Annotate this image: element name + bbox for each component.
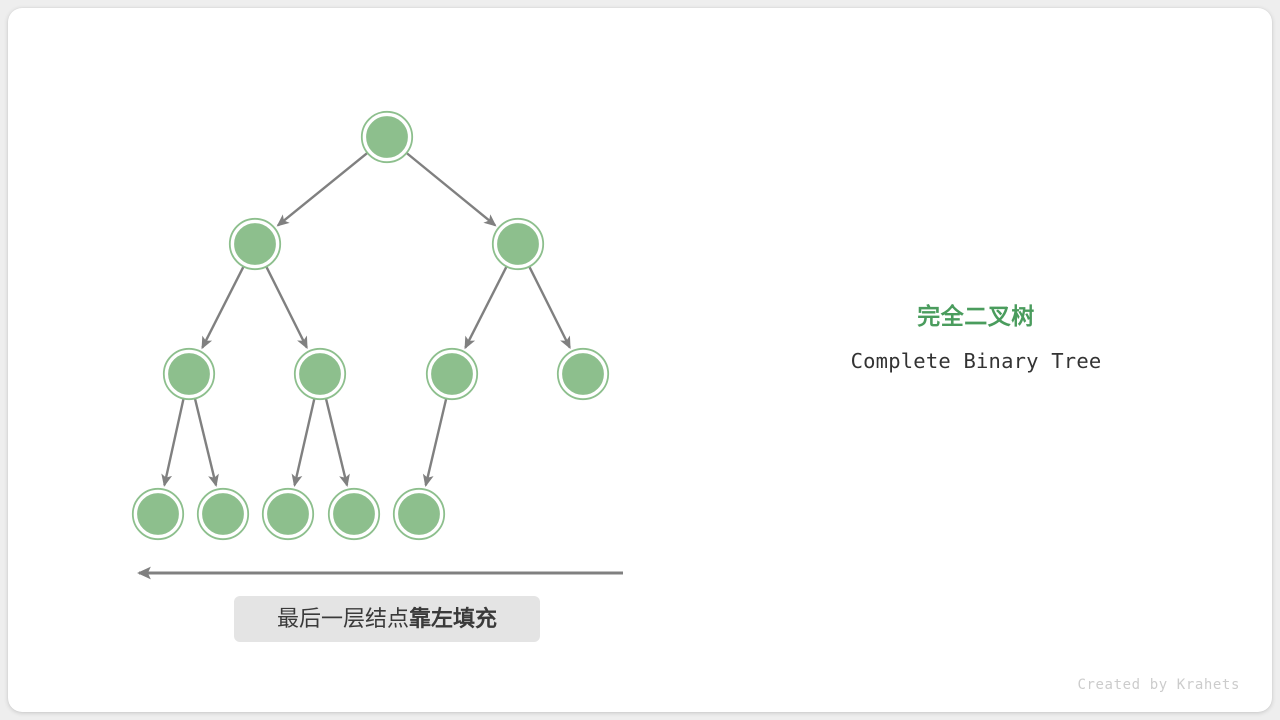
tree-node[interactable] bbox=[263, 489, 313, 539]
tree-edge bbox=[406, 153, 495, 226]
tree-node-circle bbox=[298, 352, 342, 396]
tree-edge bbox=[202, 266, 244, 348]
tree-edge bbox=[266, 266, 307, 348]
tree-edge bbox=[195, 398, 216, 486]
tree-edge bbox=[295, 398, 315, 485]
tree-edge bbox=[426, 398, 447, 485]
tree-node[interactable] bbox=[427, 349, 477, 399]
tree-node-circle bbox=[365, 115, 409, 159]
diagram-card: 最后一层结点靠左填充 完全二叉树 Complete Binary Tree Cr… bbox=[8, 8, 1272, 712]
tree-node[interactable] bbox=[164, 349, 214, 399]
tree-node[interactable] bbox=[198, 489, 248, 539]
binary-tree-diagram: 最后一层结点靠左填充 完全二叉树 Complete Binary Tree Cr… bbox=[8, 8, 1272, 712]
badge-label-strong: 靠左填充 bbox=[409, 606, 497, 631]
tree-edge bbox=[278, 152, 368, 225]
tree-node[interactable] bbox=[230, 219, 280, 269]
legend-title-cn: 完全二叉树 bbox=[917, 303, 1035, 329]
annotation-badge: 最后一层结点靠左填充 bbox=[234, 596, 540, 642]
tree-nodes bbox=[133, 112, 608, 539]
tree-node-circle bbox=[233, 222, 277, 266]
tree-node-circle bbox=[496, 222, 540, 266]
tree-edge bbox=[326, 398, 347, 486]
tree-node[interactable] bbox=[493, 219, 543, 269]
legend-block: 完全二叉树 Complete Binary Tree bbox=[851, 303, 1102, 373]
tree-node[interactable] bbox=[133, 489, 183, 539]
tree-node-circle bbox=[201, 492, 245, 536]
tree-edge bbox=[465, 266, 507, 348]
svg-text:最后一层结点靠左填充: 最后一层结点靠左填充 bbox=[277, 606, 497, 631]
tree-node-circle bbox=[430, 352, 474, 396]
legend-title-en: Complete Binary Tree bbox=[851, 349, 1102, 373]
tree-node-circle bbox=[266, 492, 310, 536]
tree-node[interactable] bbox=[558, 349, 608, 399]
tree-node[interactable] bbox=[394, 489, 444, 539]
tree-node-circle bbox=[332, 492, 376, 536]
tree-node[interactable] bbox=[329, 489, 379, 539]
tree-node-circle bbox=[561, 352, 605, 396]
tree-node-circle bbox=[397, 492, 441, 536]
tree-edge bbox=[164, 398, 183, 485]
tree-node-circle bbox=[167, 352, 211, 396]
tree-node-circle bbox=[136, 492, 180, 536]
credit-label: Created by Krahets bbox=[1077, 677, 1240, 693]
badge-label-normal: 最后一层结点 bbox=[277, 606, 409, 631]
tree-edge bbox=[529, 266, 570, 348]
tree-edges bbox=[164, 152, 569, 485]
tree-node[interactable] bbox=[295, 349, 345, 399]
tree-node[interactable] bbox=[362, 112, 412, 162]
